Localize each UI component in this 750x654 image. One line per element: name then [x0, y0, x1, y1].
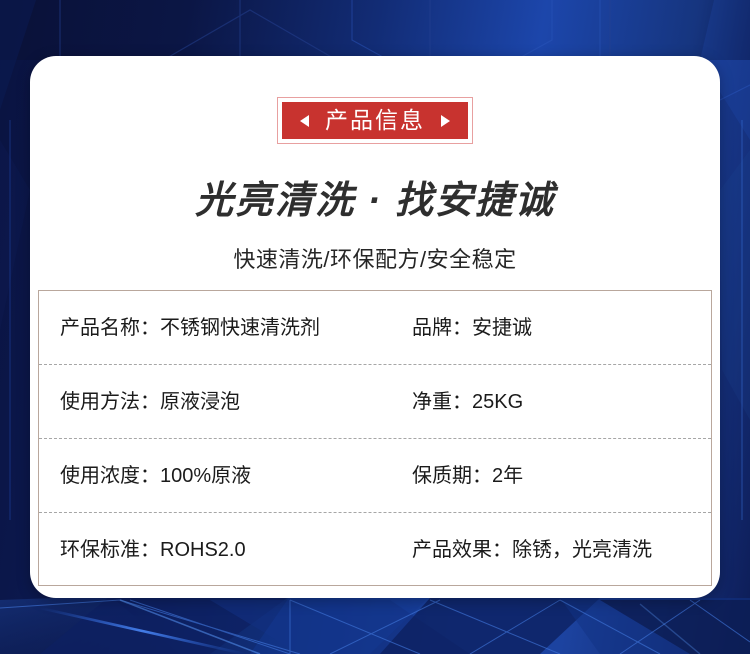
spec-cell-net-weight: 净重：25KG [412, 392, 711, 412]
spec-cell-usage-method: 使用方法：原液浸泡 [60, 392, 412, 412]
spec-cell-product-effect: 产品效果：除锈，光亮清洗 [412, 540, 711, 560]
background-top-band [0, 0, 750, 60]
spec-cell-eco-standard: 环保标准：ROHS2.0 [60, 540, 412, 560]
section-badge-label: 产品信息 [325, 109, 425, 132]
section-badge-wrapper: 产品信息 [30, 97, 720, 144]
spec-cell-shelf-life: 保质期：2年 [412, 466, 711, 486]
table-row: 产品名称：不锈钢快速清洗剂 品牌：安捷诚 [39, 291, 711, 365]
spec-cell-product-name: 产品名称：不锈钢快速清洗剂 [60, 318, 412, 338]
spec-cell-concentration: 使用浓度：100%原液 [60, 466, 412, 486]
product-info-banner: 产品信息 光亮清洗 · 找安捷诚 快速清洗/环保配方/安全稳定 产品名称：不锈钢… [0, 0, 750, 654]
triangle-left-icon [300, 115, 309, 127]
content-card: 产品信息 光亮清洗 · 找安捷诚 快速清洗/环保配方/安全稳定 产品名称：不锈钢… [30, 56, 720, 598]
table-row: 使用浓度：100%原液 保质期：2年 [39, 439, 711, 513]
table-row: 使用方法：原液浸泡 净重：25KG [39, 365, 711, 439]
page-title: 光亮清洗 · 找安捷诚 [30, 180, 720, 224]
triangle-right-icon [441, 115, 450, 127]
section-badge-outline: 产品信息 [277, 97, 473, 144]
table-row: 环保标准：ROHS2.0 产品效果：除锈，光亮清洗 [39, 513, 711, 587]
spec-table: 产品名称：不锈钢快速清洗剂 品牌：安捷诚 使用方法：原液浸泡 净重：25KG 使… [38, 290, 712, 586]
section-badge: 产品信息 [282, 102, 468, 139]
page-subtitle: 快速清洗/环保配方/安全稳定 [30, 242, 720, 274]
spec-cell-brand: 品牌：安捷诚 [412, 318, 711, 338]
